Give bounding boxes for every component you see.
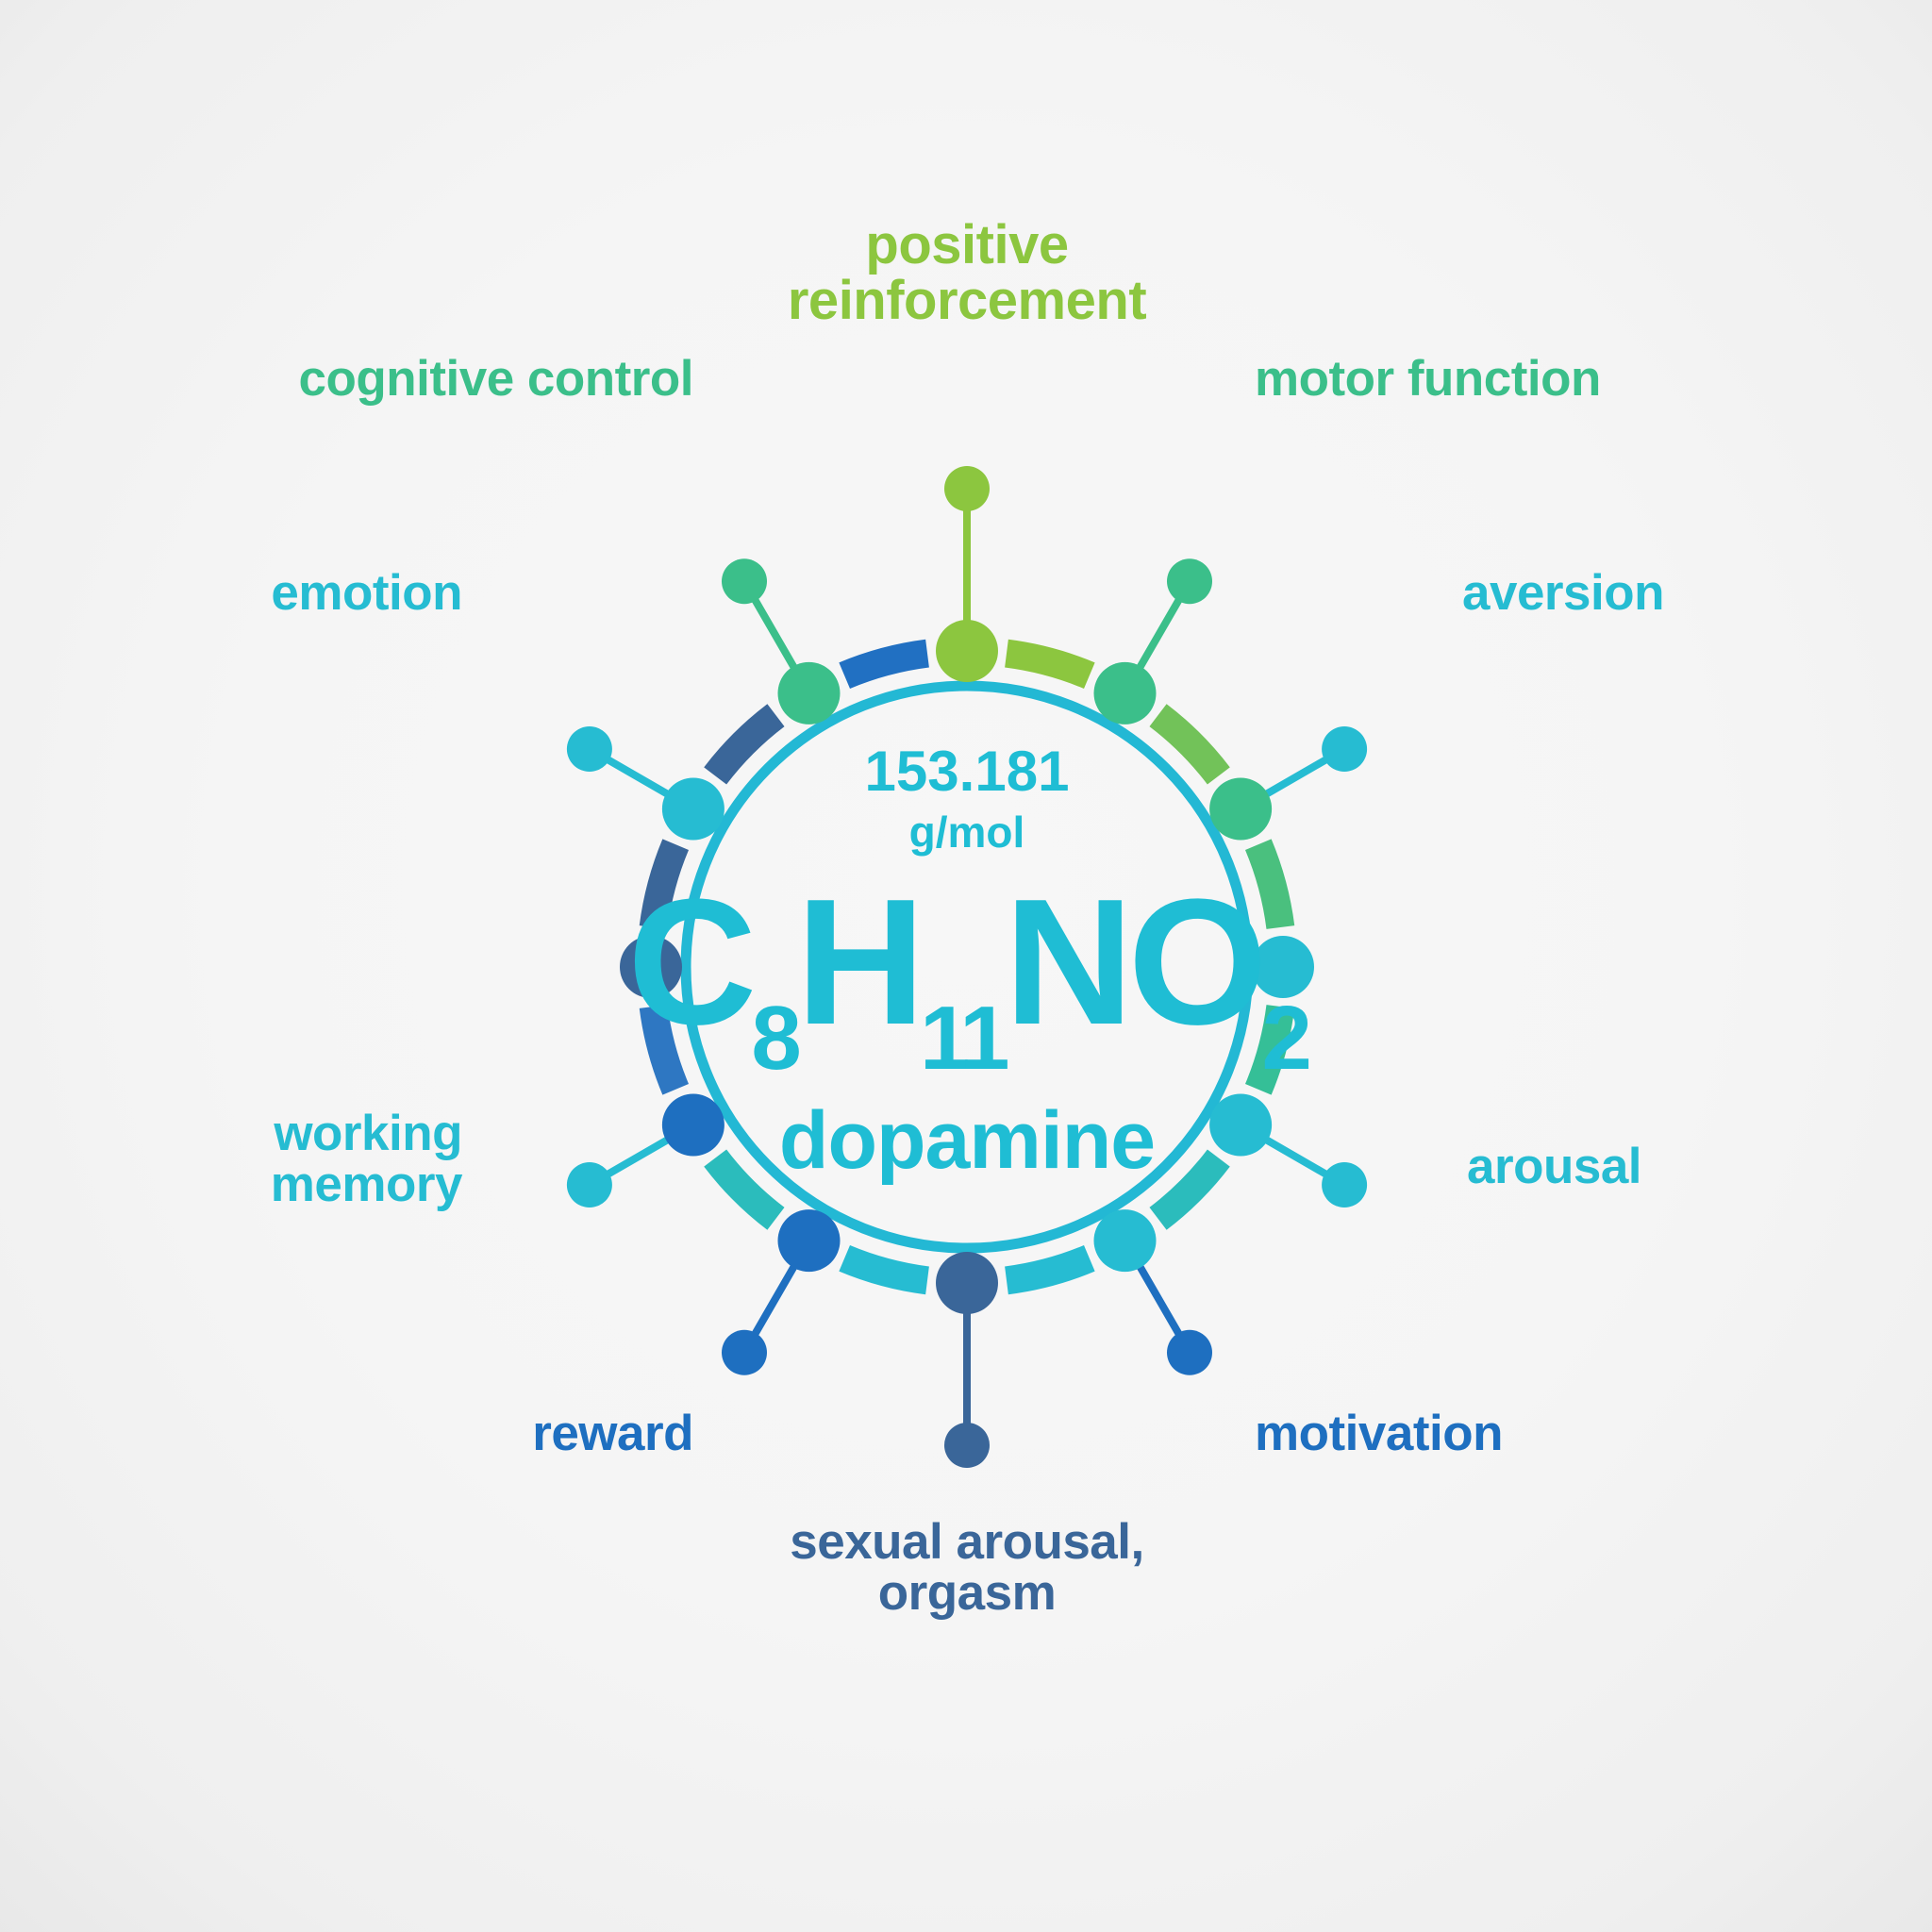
spoke-endpoint-dot-sexual-arousal-orgasm[interactable] — [944, 1423, 990, 1468]
chemical-formula: C8H11NO2 — [627, 862, 1308, 1089]
ring-node-2[interactable] — [1209, 778, 1272, 841]
spoke-endpoint-dot-reward[interactable] — [722, 1330, 767, 1375]
spoke-label-reward[interactable]: reward — [0, 1408, 693, 1459]
spoke-endpoint-dot-emotion[interactable] — [567, 726, 612, 772]
formula-subscript-0: 8 — [751, 988, 799, 1089]
ring-node-6[interactable] — [936, 1252, 998, 1314]
ring-node-0[interactable] — [936, 620, 998, 682]
ring-arc-segment-6 — [844, 1258, 927, 1281]
spoke-endpoint-dot-motivation[interactable] — [1167, 1330, 1212, 1375]
ring-arc-segment-11 — [844, 654, 927, 676]
spoke-label-motivation[interactable]: motivation — [1255, 1408, 1503, 1459]
ring-node-4[interactable] — [1209, 1094, 1272, 1157]
spoke-endpoint-dot-aversion[interactable] — [1322, 726, 1367, 772]
spoke-endpoint-dot-motor-function[interactable] — [1167, 558, 1212, 604]
ring-node-10[interactable] — [662, 778, 724, 841]
ring-node-5[interactable] — [1094, 1209, 1157, 1272]
spoke-endpoint-dot-arousal[interactable] — [1322, 1162, 1367, 1207]
ring-node-8[interactable] — [662, 1094, 724, 1157]
ring-arc-segment-0 — [1007, 654, 1090, 676]
spoke-label-aversion[interactable]: aversion — [1462, 568, 1664, 619]
spoke-label-sexual-arousal-orgasm[interactable]: sexual arousal, orgasm — [1, 1517, 1932, 1619]
infographic-canvas: 153.181 g/mol C8H11NO2 dopamine positive… — [0, 0, 1932, 1932]
spoke-label-arousal[interactable]: arousal — [1467, 1141, 1641, 1192]
molar-mass-value: 153.181 — [865, 740, 1070, 803]
spoke-label-working-memory[interactable]: working memory — [0, 1108, 462, 1210]
formula-symbol-1: H — [796, 862, 920, 1062]
ring-arc-segment-5 — [1007, 1258, 1090, 1281]
ring-node-1[interactable] — [1094, 662, 1157, 724]
spoke-label-motor-function[interactable]: motor function — [1255, 354, 1601, 405]
formula-symbol-2: NO — [1004, 862, 1261, 1062]
formula-subscript-1: 11 — [920, 988, 1008, 1089]
spoke-endpoint-dot-cognitive-control[interactable] — [722, 558, 767, 604]
ring-node-11[interactable] — [778, 662, 841, 724]
molar-mass-unit: g/mol — [909, 808, 1025, 857]
spoke-label-positive-reinforcement[interactable]: positive reinforcement — [1, 217, 1932, 328]
ring-node-7[interactable] — [778, 1209, 841, 1272]
spoke-endpoint-dot-positive-reinforcement[interactable] — [944, 466, 990, 511]
spoke-endpoint-dot-working-memory[interactable] — [567, 1162, 612, 1207]
molecule-name: dopamine — [779, 1095, 1155, 1186]
spoke-label-cognitive-control[interactable]: cognitive control — [0, 354, 693, 405]
spoke-label-emotion[interactable]: emotion — [0, 568, 462, 619]
formula-subscript-2: 2 — [1261, 988, 1308, 1089]
formula-symbol-0: C — [627, 862, 753, 1062]
